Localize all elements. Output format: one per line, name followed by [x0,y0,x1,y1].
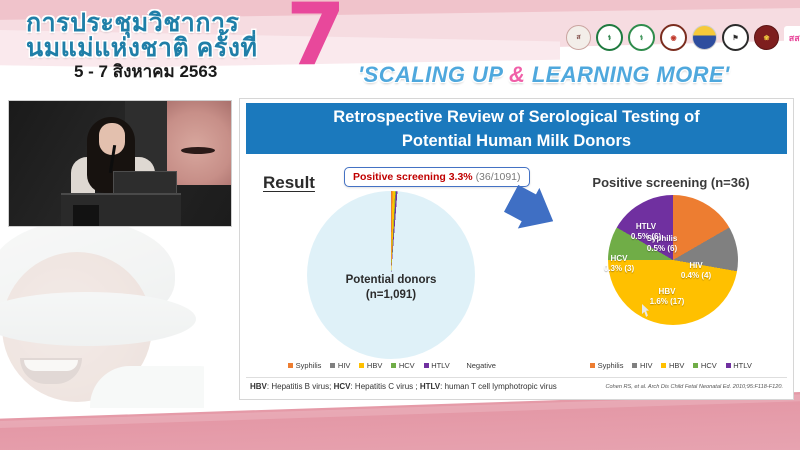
positive-screening-chart-title: Positive screening (n=36) [558,175,784,190]
legend-item-htlv-right: HTLV [726,361,752,370]
slice-label-syphilis-value: 0.5% (6) [636,244,688,254]
footnote-hbv-def: : Hepatitis B virus; [267,382,334,391]
podium-front-panel [73,205,99,226]
slide-footnote: HBV: Hepatitis B virus; HCV: Hepatitis C… [246,377,787,395]
legend-swatch-htlv [424,363,429,368]
legend-item-hiv-right: HIV [632,361,652,370]
watermark-shirt [90,366,204,408]
footnote-abbreviations: HBV: Hepatitis B virus; HCV: Hepatitis C… [250,382,557,391]
presentation-slide[interactable]: Retrospective Review of Serological Test… [239,98,794,400]
legend-label-htlv-left: HTLV [431,361,450,370]
tagline-part2: LEARNING MORE' [525,62,729,87]
legend-item-syphilis-left: Syphilis [288,361,321,370]
arrow-right-icon [500,178,564,241]
slide-title: Retrospective Review of Serological Test… [246,103,787,154]
tagline-ampersand: & [509,62,525,87]
watermark-teeth [24,360,78,371]
footnote-hcv-def: : Hepatitis C virus ; [350,382,419,391]
slice-label-hcv-value: 0.3% (3) [598,264,640,274]
slide-title-line1: Retrospective Review of Serological Test… [333,105,699,129]
logo-royal-college-icon: ◉ [660,24,687,51]
legend-swatch-hiv [330,363,335,368]
footnote-hcv-key: HCV [334,382,351,391]
footnote-htlv-key: HTLV [420,382,440,391]
logo-thaihealth-icon: สสส [784,26,800,49]
legend-label-hcv-right: HCV [701,361,717,370]
tagline-part1: 'SCALING UP [358,62,509,87]
positive-screening-legend: Syphilis HIV HBV HCV HTLV [558,361,784,370]
potential-donors-legend: Syphilis HIV HBV HCV HTLV Negative [276,361,508,370]
slice-label-htlv-value: 0.5% (6) [622,232,670,242]
potential-donors-center-label: Potential donors (n=1,091) [307,273,475,303]
positive-screening-callout: Positive screening 3.3% (36/1091) [344,167,530,187]
callout-detail-text: (36/1091) [476,171,521,183]
legend-swatch-hiv-right [632,363,637,368]
logo-university-icon: ❀ [754,25,779,50]
potential-donors-label-line1: Potential donors [307,273,475,288]
legend-swatch-negative [459,363,464,368]
slice-label-hbv-name: HBV [640,287,694,297]
legend-label-hiv-right: HIV [640,361,653,370]
legend-swatch-htlv-right [726,363,731,368]
slice-label-hiv-name: HIV [672,261,720,271]
conference-edition-number: 7 [286,0,346,78]
result-heading: Result [263,173,315,193]
slice-label-hcv-name: HCV [598,254,640,264]
legend-swatch-syphilis [288,363,293,368]
legend-swatch-hcv [391,363,396,368]
slice-label-hbv-value: 1.6% (17) [640,297,694,307]
legend-label-hbv-right: HBV [669,361,684,370]
legend-swatch-hbv [359,363,364,368]
pie-slice-label-hcv: HCV 0.3% (3) [598,254,640,274]
legend-label-hbv-left: HBV [367,361,382,370]
slide-title-line2: Potential Human Milk Donors [402,129,631,153]
legend-item-syphilis-right: Syphilis [590,361,623,370]
conference-date-thai: 5 - 7 สิงหาคม 2563 [74,58,217,85]
logo-thai-pediatric-icon [692,25,717,50]
conference-tagline: 'SCALING UP & LEARNING MORE' [358,62,730,88]
slice-label-hiv-value: 0.4% (4) [672,271,720,281]
potential-donors-label-line2: (n=1,091) [307,288,475,303]
potential-donors-pie-chart: Potential donors (n=1,091) [307,191,475,359]
pie-slice-label-hbv: HBV 1.6% (17) [640,287,694,307]
legend-label-hcv-left: HCV [399,361,415,370]
sponsor-logos-row: ส ⚕ ⚕ ◉ ⚑ ❀ สสส [566,24,800,51]
legend-label-negative-left: Negative [466,361,496,370]
footnote-citation: Cohen RS, et al. Arch Dis Child Fetal Ne… [605,384,783,390]
legend-label-hiv-left: HIV [338,361,351,370]
legend-swatch-hcv-right [693,363,698,368]
speaker-video-feed[interactable] [8,100,232,227]
legend-item-hiv-left: HIV [330,361,350,370]
legend-label-syphilis-left: Syphilis [296,361,322,370]
legend-item-hcv-left: HCV [391,361,414,370]
pie-slice-label-htlv: HTLV 0.5% (6) [622,222,670,242]
callout-highlight-text: Positive screening 3.3% [353,171,473,183]
legend-label-syphilis-right: Syphilis [598,361,624,370]
legend-item-hcv-right: HCV [693,361,716,370]
logo-ministry-health-icon: ⚕ [596,24,623,51]
legend-item-htlv-left: HTLV [424,361,450,370]
logo-health-dept-icon: ⚕ [628,24,655,51]
legend-item-negative-left: Negative [459,361,496,370]
logo-royal-seal-icon: ส [566,25,591,50]
logo-nursing-council-icon: ⚑ [722,24,749,51]
video-screen-baby-eye [181,147,215,154]
pie-slice-label-hiv: HIV 0.4% (4) [672,261,720,281]
legend-swatch-syphilis-right [590,363,595,368]
conference-header-banner: 7 การประชุมวิชาการ นมแม่แห่งชาติ ครั้งที… [0,0,800,94]
legend-item-hbv-left: HBV [359,361,382,370]
footnote-hbv-key: HBV [250,382,267,391]
legend-item-hbv-right: HBV [661,361,684,370]
watermark-hat-brim [0,292,196,346]
slice-label-htlv-name: HTLV [622,222,670,232]
footnote-htlv-def: : human T cell lymphotropic virus [440,382,557,391]
child-watermark-image [0,208,204,408]
legend-label-htlv-right: HTLV [733,361,752,370]
legend-swatch-hbv-right [661,363,666,368]
